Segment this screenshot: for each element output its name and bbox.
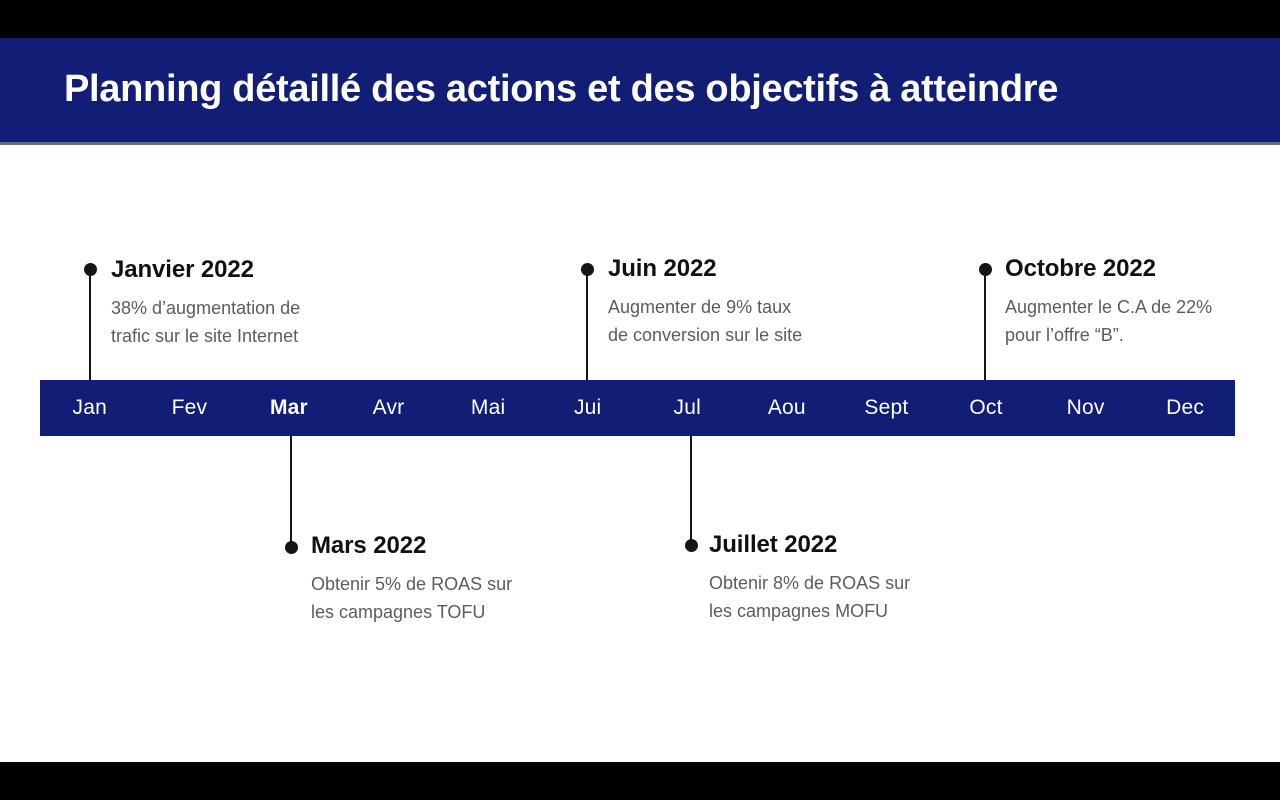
- milestone-dot-juin: [581, 263, 594, 276]
- milestone-title: Mars 2022: [311, 532, 571, 560]
- milestone-mars[interactable]: Mars 2022 Obtenir 5% de ROAS sur les cam…: [311, 532, 571, 627]
- month-cell-oct[interactable]: Oct: [936, 380, 1036, 436]
- milestone-description: Augmenter le C.A de 22% pour l’offre “B”…: [1005, 293, 1255, 351]
- month-cell-dec[interactable]: Dec: [1135, 380, 1235, 436]
- connector-stem-janvier: [89, 268, 91, 380]
- milestone-juin[interactable]: Juin 2022 Augmenter de 9% taux de conver…: [608, 255, 858, 350]
- month-cell-sept[interactable]: Sept: [837, 380, 937, 436]
- month-cell-aou[interactable]: Aou: [737, 380, 837, 436]
- month-cell-nov[interactable]: Nov: [1036, 380, 1136, 436]
- milestone-description: Augmenter de 9% taux de conversion sur l…: [608, 293, 858, 351]
- milestone-title: Juillet 2022: [709, 531, 969, 559]
- milestone-janvier[interactable]: Janvier 2022 38% d’augmentation de trafi…: [111, 256, 371, 351]
- connector-stem-juillet: [690, 436, 692, 545]
- milestone-dot-juillet: [685, 539, 698, 552]
- title-band: Planning détaillé des actions et des obj…: [0, 38, 1280, 142]
- milestone-description: 38% d’augmentation de trafic sur le site…: [111, 294, 371, 352]
- connector-stem-mars: [290, 436, 292, 547]
- page-title: Planning détaillé des actions et des obj…: [0, 69, 1098, 111]
- milestone-dot-octobre: [979, 263, 992, 276]
- milestone-title: Juin 2022: [608, 255, 858, 283]
- month-cell-mai[interactable]: Mai: [438, 380, 538, 436]
- milestone-title: Octobre 2022: [1005, 255, 1255, 283]
- month-cell-mar[interactable]: Mar: [239, 380, 339, 436]
- letterbox-bottom: [0, 762, 1280, 800]
- connector-stem-juin: [586, 268, 588, 380]
- milestone-dot-janvier: [84, 263, 97, 276]
- milestone-description: Obtenir 5% de ROAS sur les campagnes TOF…: [311, 570, 571, 628]
- slide-frame: Planning détaillé des actions et des obj…: [0, 0, 1280, 800]
- connector-stem-octobre: [984, 268, 986, 380]
- month-cell-avr[interactable]: Avr: [339, 380, 439, 436]
- letterbox-top: [0, 0, 1280, 38]
- month-cell-fev[interactable]: Fev: [140, 380, 240, 436]
- month-cell-jul[interactable]: Jul: [637, 380, 737, 436]
- milestone-juillet[interactable]: Juillet 2022 Obtenir 8% de ROAS sur les …: [709, 531, 969, 626]
- timeline-month-bar: Jan Fev Mar Avr Mai Jui Jul Aou Sept Oct…: [40, 380, 1235, 436]
- month-cell-jan[interactable]: Jan: [40, 380, 140, 436]
- slide-canvas: Planning détaillé des actions et des obj…: [0, 38, 1280, 762]
- month-cell-jui[interactable]: Jui: [538, 380, 638, 436]
- milestone-description: Obtenir 8% de ROAS sur les campagnes MOF…: [709, 569, 969, 627]
- milestone-dot-mars: [285, 541, 298, 554]
- milestone-octobre[interactable]: Octobre 2022 Augmenter le C.A de 22% pou…: [1005, 255, 1255, 350]
- title-band-divider: [0, 142, 1280, 145]
- milestone-title: Janvier 2022: [111, 256, 371, 284]
